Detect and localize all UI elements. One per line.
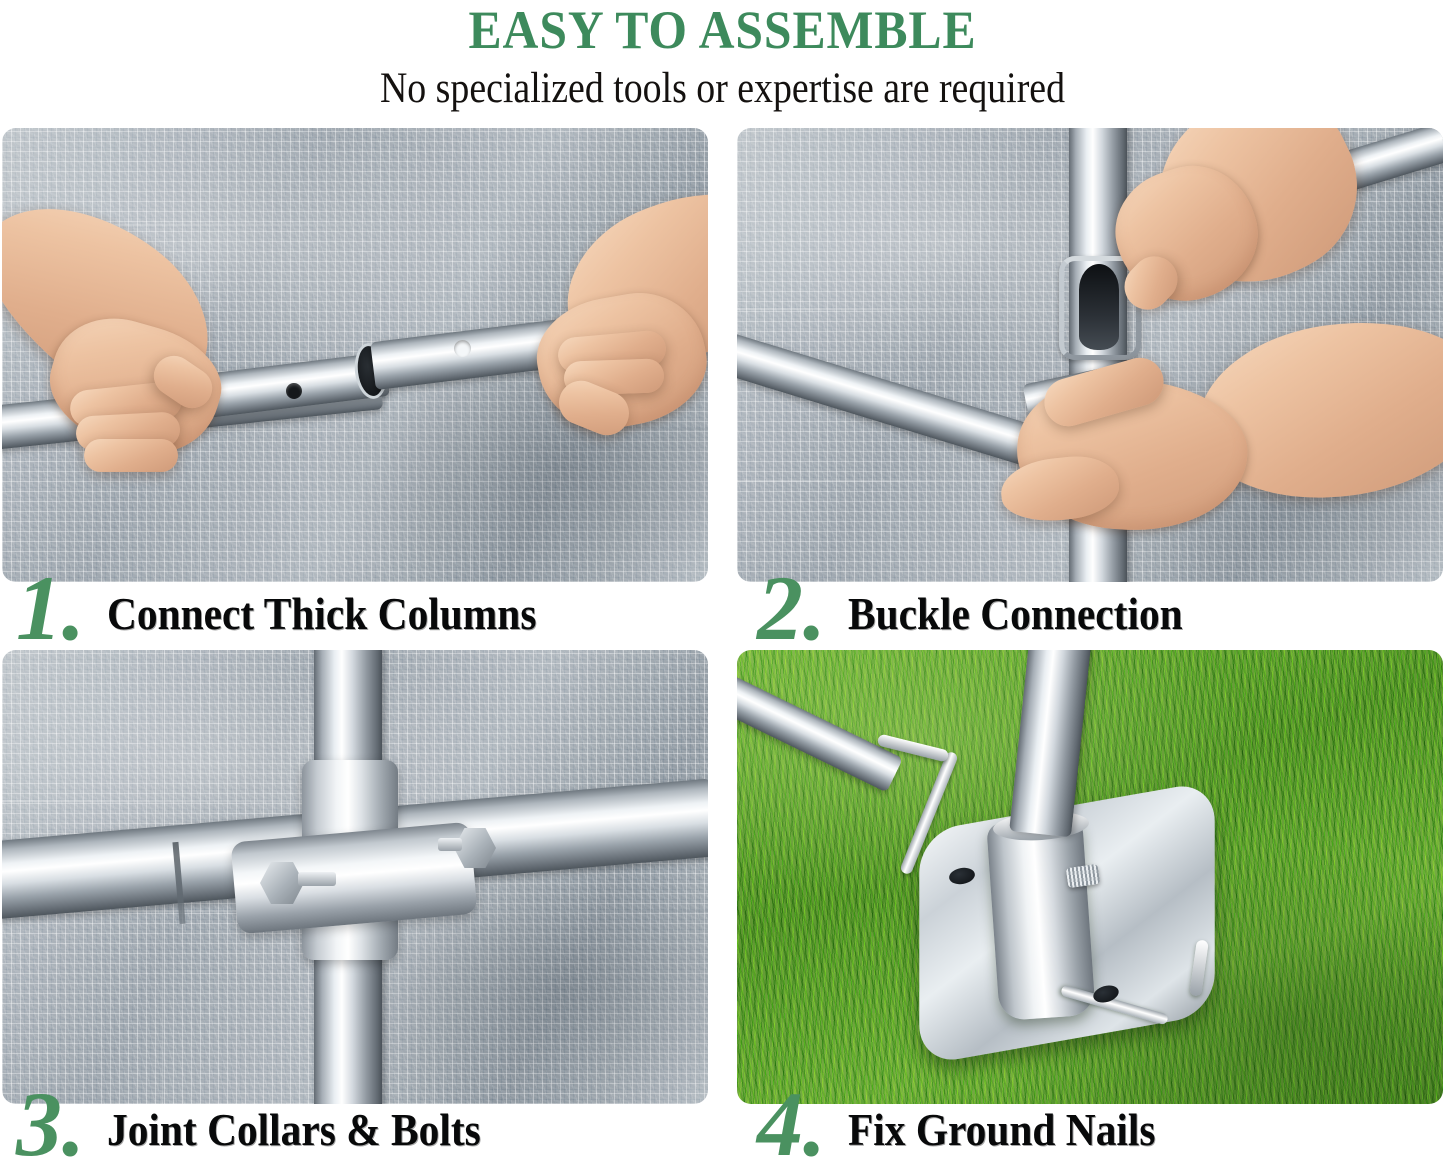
- header: EASY TO ASSEMBLE No specialized tools or…: [0, 0, 1445, 128]
- step-3-caption: 3. Joint Collars & Bolts: [2, 1088, 708, 1160]
- step-1-label: Connect Thick Columns: [107, 588, 536, 640]
- page-subtitle: No specialized tools or expertise are re…: [87, 64, 1359, 114]
- step-1-photo: [2, 128, 708, 582]
- step-2-photo: [737, 128, 1443, 582]
- step-card-3: 3. Joint Collars & Bolts: [2, 650, 708, 1160]
- step-4-number: 4.: [757, 1088, 826, 1160]
- step-card-2: 2. Buckle Connection: [737, 128, 1443, 644]
- step-1-number: 1.: [16, 572, 85, 644]
- page-title: EASY TO ASSEMBLE: [58, 0, 1387, 58]
- step-card-4: 4. Fix Ground Nails: [737, 650, 1443, 1160]
- step-4-label: Fix Ground Nails: [848, 1104, 1156, 1156]
- step-3-photo: [2, 650, 708, 1104]
- left-finger-3: [84, 439, 178, 472]
- step-2-number: 2.: [757, 572, 826, 644]
- step-2-label: Buckle Connection: [848, 588, 1183, 640]
- bolt-shaft-left: [298, 872, 336, 886]
- step-3-label: Joint Collars & Bolts: [107, 1104, 481, 1156]
- bolt-shaft-right: [438, 838, 462, 851]
- step-2-caption: 2. Buckle Connection: [737, 572, 1443, 644]
- steps-grid: 1. Connect Thick Columns: [0, 128, 1445, 1160]
- step-3-number: 3.: [16, 1088, 85, 1160]
- step-4-caption: 4. Fix Ground Nails: [737, 1088, 1443, 1160]
- step-1-caption: 1. Connect Thick Columns: [2, 572, 708, 644]
- step-4-photo: [737, 650, 1443, 1104]
- step-card-1: 1. Connect Thick Columns: [2, 128, 708, 644]
- infographic-page: EASY TO ASSEMBLE No specialized tools or…: [0, 0, 1445, 1160]
